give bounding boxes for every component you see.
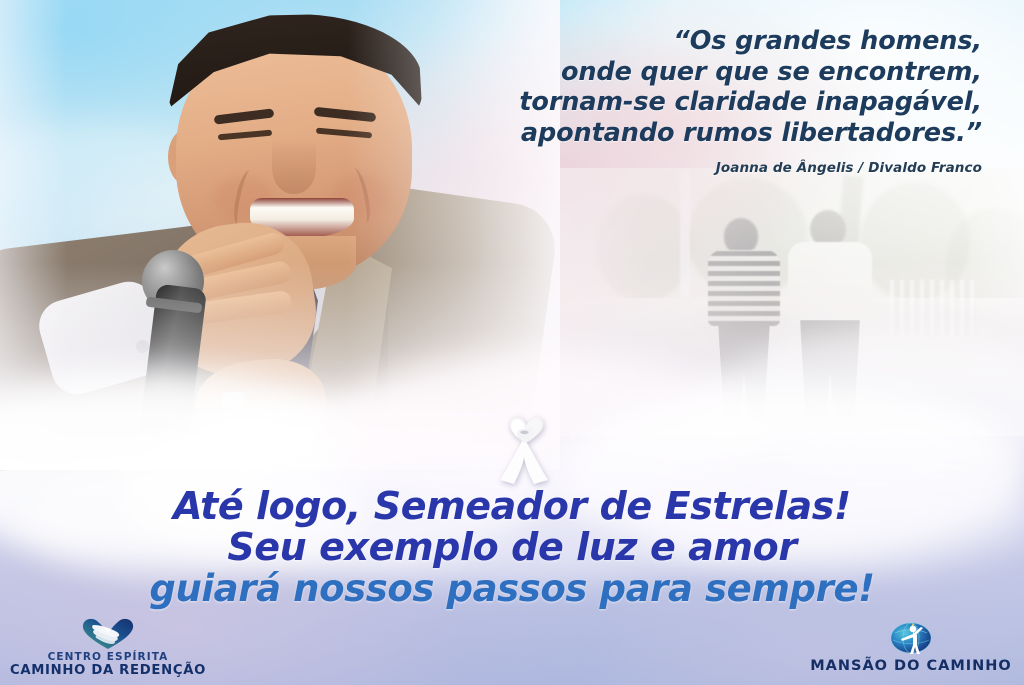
tribute-poster: “Os grandes homens, onde quer que se enc… — [0, 0, 1024, 685]
globe-figure-flame-icon — [887, 614, 935, 656]
quote-line-1: “Os grandes homens, — [382, 26, 982, 57]
quote-line-2: onde quer que se encontrem, — [382, 57, 982, 88]
logo-left-line-2: CAMINHO DA REDENÇÃO — [8, 663, 208, 678]
headline-line-3: guiará nossos passos para sempre! — [0, 568, 1024, 609]
background-photo-two-figures — [560, 168, 1024, 436]
logo-mansao-do-caminho[interactable]: MANSÃO DO CAMINHO — [806, 614, 1016, 675]
finger-ring — [222, 392, 244, 408]
photo-fade-overlay — [560, 168, 1024, 436]
quote-line-4: apontando rumos libertadores.” — [382, 118, 982, 149]
quote-block: “Os grandes homens, onde quer que se enc… — [382, 26, 982, 176]
cuff-button — [136, 340, 149, 353]
headline-block: Até logo, Semeador de Estrelas! Seu exem… — [0, 486, 1024, 609]
mourning-ribbon-icon — [484, 412, 564, 486]
nose — [272, 140, 316, 194]
quote-attribution: Joanna de Ângelis / Divaldo Franco — [382, 160, 982, 176]
logo-left-line-1: CENTRO ESPÍRITA — [8, 651, 208, 663]
quote-line-3: tornam-se claridade inapagável, — [382, 87, 982, 118]
heart-hands-icon — [80, 616, 136, 650]
logo-right-line-1: MANSÃO DO CAMINHO — [806, 658, 1016, 675]
headline-line-2: Seu exemplo de luz e amor — [0, 527, 1024, 568]
logo-centro-espirita-caminho-da-redencao[interactable]: CENTRO ESPÍRITA CAMINHO DA REDENÇÃO — [8, 616, 208, 678]
headline-line-1: Até logo, Semeador de Estrelas! — [0, 486, 1024, 527]
